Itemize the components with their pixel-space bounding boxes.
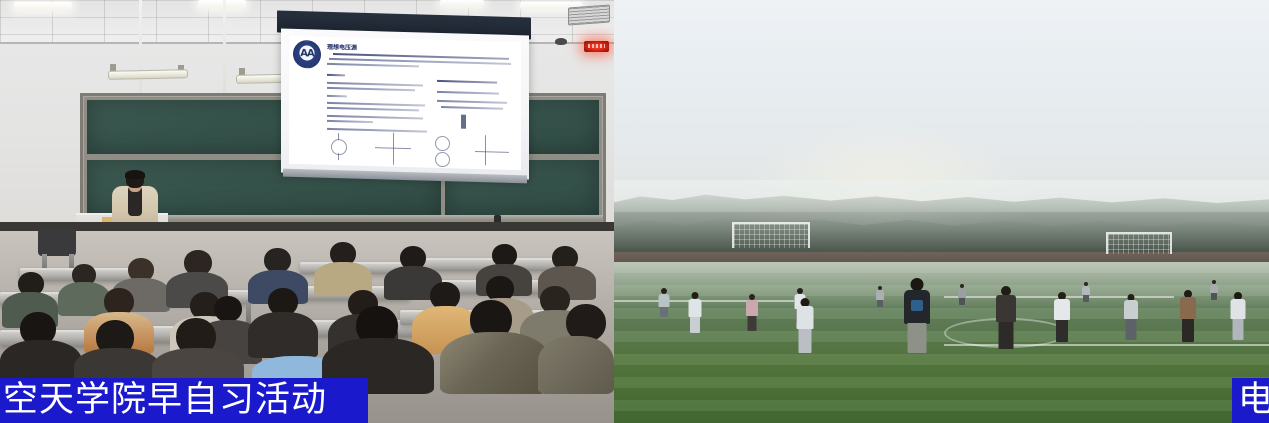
person-legs — [1056, 320, 1068, 342]
field-person — [996, 286, 1016, 348]
person-legs — [1182, 319, 1194, 342]
field-person-distant — [958, 284, 966, 304]
student-body — [440, 332, 550, 394]
slide-text-line — [441, 106, 503, 110]
ceiling-light — [440, 0, 484, 7]
circuit-wire — [338, 133, 339, 140]
slide-text-line — [437, 100, 507, 104]
slide-title: 理想电压源 — [327, 42, 357, 52]
ceiling-light — [14, 2, 72, 11]
field-person — [1230, 292, 1245, 340]
field-person — [1124, 294, 1138, 340]
pitch-mist — [614, 262, 1269, 310]
panel-sports-field: 电子学院早锻炼活动 — [614, 0, 1269, 423]
person-legs — [959, 298, 965, 305]
field-person — [904, 278, 930, 352]
slide-text-line — [327, 63, 419, 68]
person-legs — [1126, 319, 1137, 340]
student-body — [58, 282, 110, 316]
person-torso — [659, 294, 670, 307]
slide-text-line — [327, 107, 419, 112]
person-head — [691, 292, 698, 299]
security-camera-icon — [555, 38, 567, 45]
field-person — [658, 288, 670, 316]
person-legs — [877, 300, 883, 307]
person-legs — [999, 322, 1014, 349]
person-torso — [1124, 300, 1138, 319]
slide-text-line — [327, 82, 423, 87]
projector-screen: AA 理想电压源 — [281, 29, 529, 180]
goal-net — [734, 224, 808, 248]
slide-text-line — [327, 102, 425, 107]
slide-text-line — [437, 91, 499, 95]
slide-text-line — [437, 80, 497, 84]
lecture-slide: AA 理想电压源 — [289, 36, 521, 170]
field-person — [1180, 290, 1196, 342]
lecturer-hair — [125, 170, 145, 179]
person-torso — [904, 290, 930, 324]
person-legs — [1083, 295, 1089, 302]
student-head — [214, 296, 242, 322]
slide-text-line — [327, 128, 427, 133]
person-legs — [690, 317, 700, 333]
person-torso — [996, 295, 1016, 322]
field-person — [1054, 292, 1070, 342]
person-legs — [1211, 293, 1217, 300]
air-vent — [568, 5, 610, 26]
goal-net — [1108, 234, 1170, 254]
circuit-symbol — [435, 152, 450, 167]
panel-classroom: AA 理想电压源 — [0, 0, 614, 423]
person-torso — [958, 288, 966, 298]
circuit-symbol — [435, 136, 450, 151]
person-torso — [688, 299, 701, 317]
slide-text-line — [327, 115, 423, 120]
person-torso — [746, 300, 758, 316]
caption-text-left: 空天学院早自习活动 — [3, 383, 327, 418]
floor-skirting — [0, 222, 614, 231]
graph-axis — [393, 133, 394, 165]
field-person — [746, 294, 758, 330]
person-legs — [748, 316, 757, 331]
pitch-marking — [614, 300, 794, 302]
slide-text-line — [327, 74, 345, 77]
slide-text-line — [327, 87, 415, 91]
slide-text-line — [327, 95, 347, 98]
field-person — [796, 298, 813, 352]
person-legs — [798, 329, 811, 353]
caption-banner-right: 电子学院早锻炼活动 — [1232, 378, 1269, 423]
backpack-icon — [911, 300, 923, 311]
photo-composite: AA 理想电压源 — [0, 0, 1269, 423]
soccer-goal — [1106, 232, 1172, 254]
logo-text: AA — [300, 49, 313, 59]
circuit-symbol — [331, 139, 347, 155]
circuit-wire — [338, 153, 339, 160]
soccer-goal — [732, 222, 810, 248]
person-torso — [876, 290, 884, 300]
person-torso — [1180, 297, 1196, 319]
graph-axis — [475, 151, 509, 153]
classroom-chair — [38, 228, 76, 256]
field-person-distant — [1082, 282, 1090, 301]
caption-text-right: 电子学院早锻炼活动 — [1238, 383, 1269, 418]
field-person-distant — [1210, 280, 1218, 299]
person-torso — [1210, 284, 1218, 293]
person-torso — [1230, 299, 1245, 319]
person-torso — [796, 306, 813, 329]
field-person — [688, 292, 701, 332]
person-torso — [1054, 299, 1070, 320]
student-body — [538, 336, 614, 394]
slide-text-line — [327, 120, 373, 123]
ceiling-light — [198, 0, 246, 9]
university-logo-icon: AA — [293, 40, 321, 69]
circuit-element — [461, 115, 466, 129]
person-torso — [1082, 286, 1090, 295]
person-legs — [660, 307, 668, 317]
student-body — [248, 312, 318, 358]
field-person-distant — [876, 286, 884, 306]
caption-banner-left: 空天学院早自习活动 — [0, 378, 368, 423]
person-legs — [1232, 319, 1243, 340]
fluorescent-lamp — [108, 69, 188, 80]
person-legs — [908, 323, 927, 353]
graph-axis — [485, 135, 486, 165]
exit-sign — [584, 41, 609, 52]
